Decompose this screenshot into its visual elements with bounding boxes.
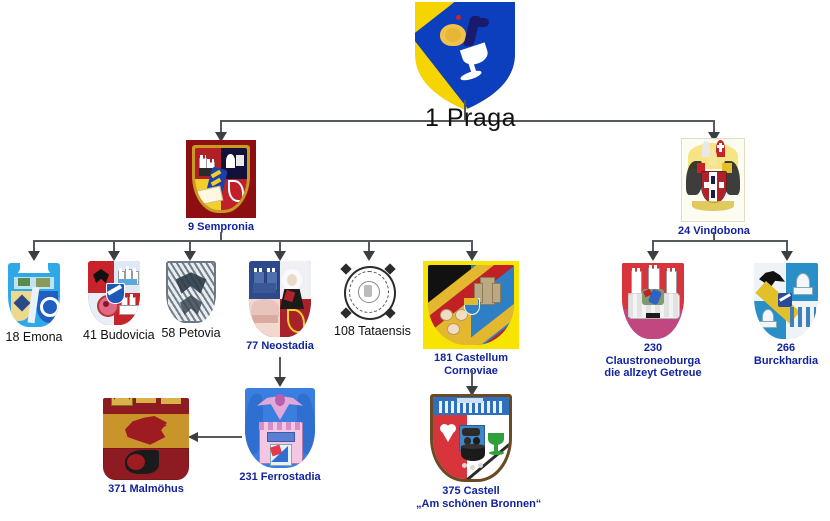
connector-sempronia-bus <box>33 240 471 242</box>
castellum-crest-wrap <box>423 261 519 349</box>
malmohus-crest-wrap <box>96 398 196 480</box>
petovia-crest-wrap <box>161 261 221 323</box>
node-castellum[interactable]: 181 Castellum Cornoviae <box>423 261 519 377</box>
node-claustroneoburga[interactable]: 230 Claustroneoburga die allzeyt Getreue <box>600 263 706 380</box>
castellum-crest <box>423 261 519 349</box>
vindobona-crest <box>681 138 745 222</box>
node-budovicia[interactable]: 41 Budovicia <box>83 261 145 342</box>
burckhardia-label: 266 <box>744 342 828 355</box>
node-ferrostadia[interactable]: 231 Ferrostadia <box>236 388 324 484</box>
node-castell[interactable]: 375 Castell „Am schönen Bronnen“ <box>416 394 526 510</box>
ferrostadia-crest <box>245 388 315 468</box>
node-emona[interactable]: 18 Emona <box>3 263 65 344</box>
claustroneoburga-label-line3: die allzeyt Getreue <box>600 367 706 380</box>
claustroneoburga-label-line2: Claustroneoburga <box>600 355 706 368</box>
emona-crest-wrap <box>3 263 65 327</box>
petovia-label: 58 Petovia <box>161 326 221 340</box>
arrow-to-claustroneoburga <box>647 251 659 261</box>
praga-crest-wrap <box>415 2 515 110</box>
node-petovia[interactable]: 58 Petovia <box>161 261 221 340</box>
sempronia-crest <box>186 140 256 218</box>
arrow-to-petovia <box>184 251 196 261</box>
connector-ferrostadia-to-malmohus <box>198 436 242 438</box>
node-sempronia[interactable]: 9 Sempronia <box>186 140 256 234</box>
neostadia-crest-wrap <box>243 261 317 337</box>
burckhardia-crest-wrap <box>744 263 828 339</box>
emona-label: 18 Emona <box>3 330 65 344</box>
arrow-to-ferrostadia <box>274 377 286 387</box>
burckhardia-label-line2: Burckhardia <box>744 355 828 368</box>
claustroneoburga-crest <box>622 263 684 339</box>
connector-vindobona-bus <box>652 240 788 242</box>
node-praga[interactable] <box>415 2 515 110</box>
tataensis-crest <box>340 263 396 321</box>
claustroneoburga-crest-wrap <box>600 263 706 339</box>
claustroneoburga-label: 230 <box>600 342 706 355</box>
petovia-crest <box>166 261 216 323</box>
vindobona-crest-wrap <box>678 138 748 222</box>
node-tataensis[interactable]: 108 Tataensis <box>334 263 402 338</box>
castellum-label: 181 Castellum <box>423 352 519 365</box>
praga-crest <box>415 2 515 110</box>
castell-crest <box>430 394 512 482</box>
ferrostadia-label: 231 Ferrostadia <box>236 471 324 484</box>
castell-label: 375 Castell <box>416 485 526 498</box>
node-malmohus[interactable]: 371 Malmöhus <box>96 398 196 496</box>
burckhardia-crest <box>754 263 818 339</box>
node-neostadia[interactable]: 77 Neostadia <box>243 261 317 353</box>
node-vindobona[interactable]: 24 Vindobona <box>678 138 748 238</box>
arrow-to-emona <box>28 251 40 261</box>
emona-crest <box>8 263 60 327</box>
neostadia-crest <box>249 261 311 337</box>
budovicia-crest <box>88 261 140 325</box>
ferrostadia-crest-wrap <box>236 388 324 468</box>
castell-crest-wrap <box>416 394 526 482</box>
neostadia-label: 77 Neostadia <box>243 340 317 353</box>
malmohus-label: 371 Malmöhus <box>96 483 196 496</box>
castell-label-line2: „Am schönen Bronnen“ <box>416 498 526 511</box>
malmohus-crest <box>103 398 189 480</box>
arrow-to-castellum <box>466 251 478 261</box>
arrow-to-tataensis <box>363 251 375 261</box>
budovicia-label: 41 Budovicia <box>83 328 145 342</box>
arrow-to-budovicia <box>108 251 120 261</box>
genealogy-diagram: 1 Praga <box>0 0 830 521</box>
tataensis-label: 108 Tataensis <box>334 324 402 338</box>
node-burckhardia[interactable]: 266 Burckhardia <box>744 263 828 367</box>
sempronia-crest-wrap <box>186 140 256 218</box>
arrow-to-neostadia <box>274 251 286 261</box>
arrow-to-burckhardia <box>781 251 793 261</box>
root-label: 1 Praga <box>425 104 516 133</box>
budovicia-crest-wrap <box>83 261 145 325</box>
tataensis-crest-wrap <box>334 263 402 321</box>
